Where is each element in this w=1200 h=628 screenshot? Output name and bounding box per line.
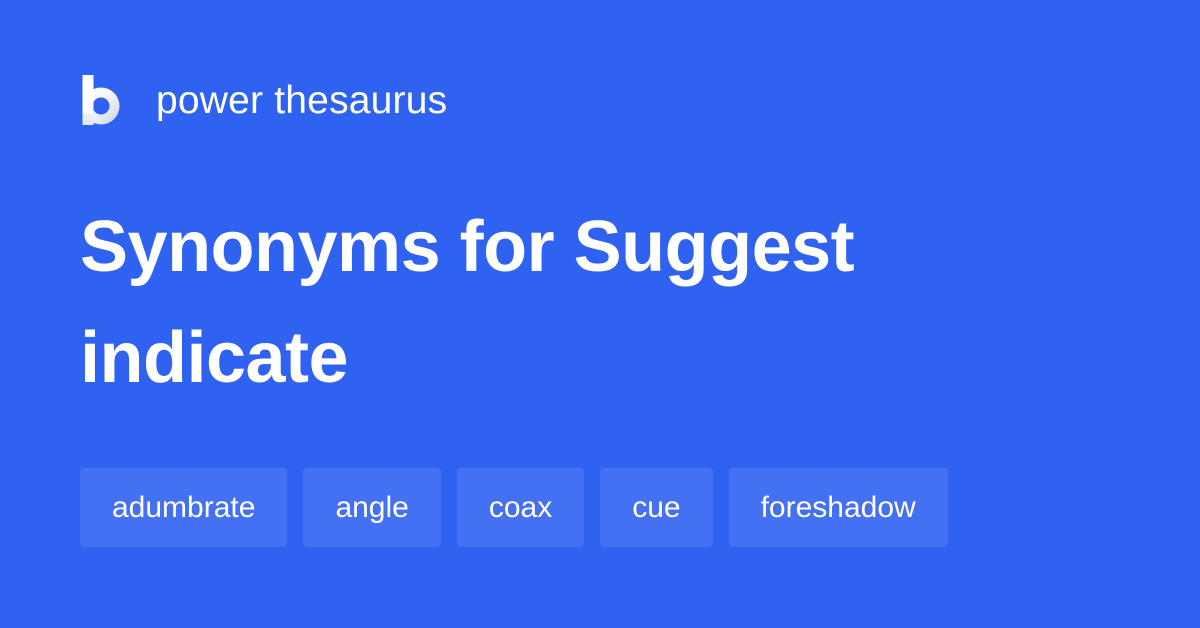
synonym-chip-coax[interactable]: coax	[457, 468, 584, 547]
page-title-line-1: Synonyms for Suggest	[80, 192, 1080, 303]
power-thesaurus-b-logo-icon	[80, 75, 126, 125]
page-title-line-2: indicate	[80, 303, 1080, 414]
synonym-chip-foreshadow[interactable]: foreshadow	[729, 468, 948, 547]
synonym-chip-angle[interactable]: angle	[303, 468, 440, 547]
page-title: Synonyms for Suggest indicate	[80, 192, 1080, 414]
synonym-chip-list: adumbrate angle coax cue foreshadow	[80, 468, 948, 547]
brand-header[interactable]: power thesaurus	[80, 72, 447, 128]
synonym-chip-adumbrate[interactable]: adumbrate	[80, 468, 287, 547]
brand-name: power thesaurus	[156, 81, 447, 120]
synonym-chip-cue[interactable]: cue	[600, 468, 712, 547]
og-preview-card: power thesaurus Synonyms for Suggest ind…	[0, 0, 1200, 628]
